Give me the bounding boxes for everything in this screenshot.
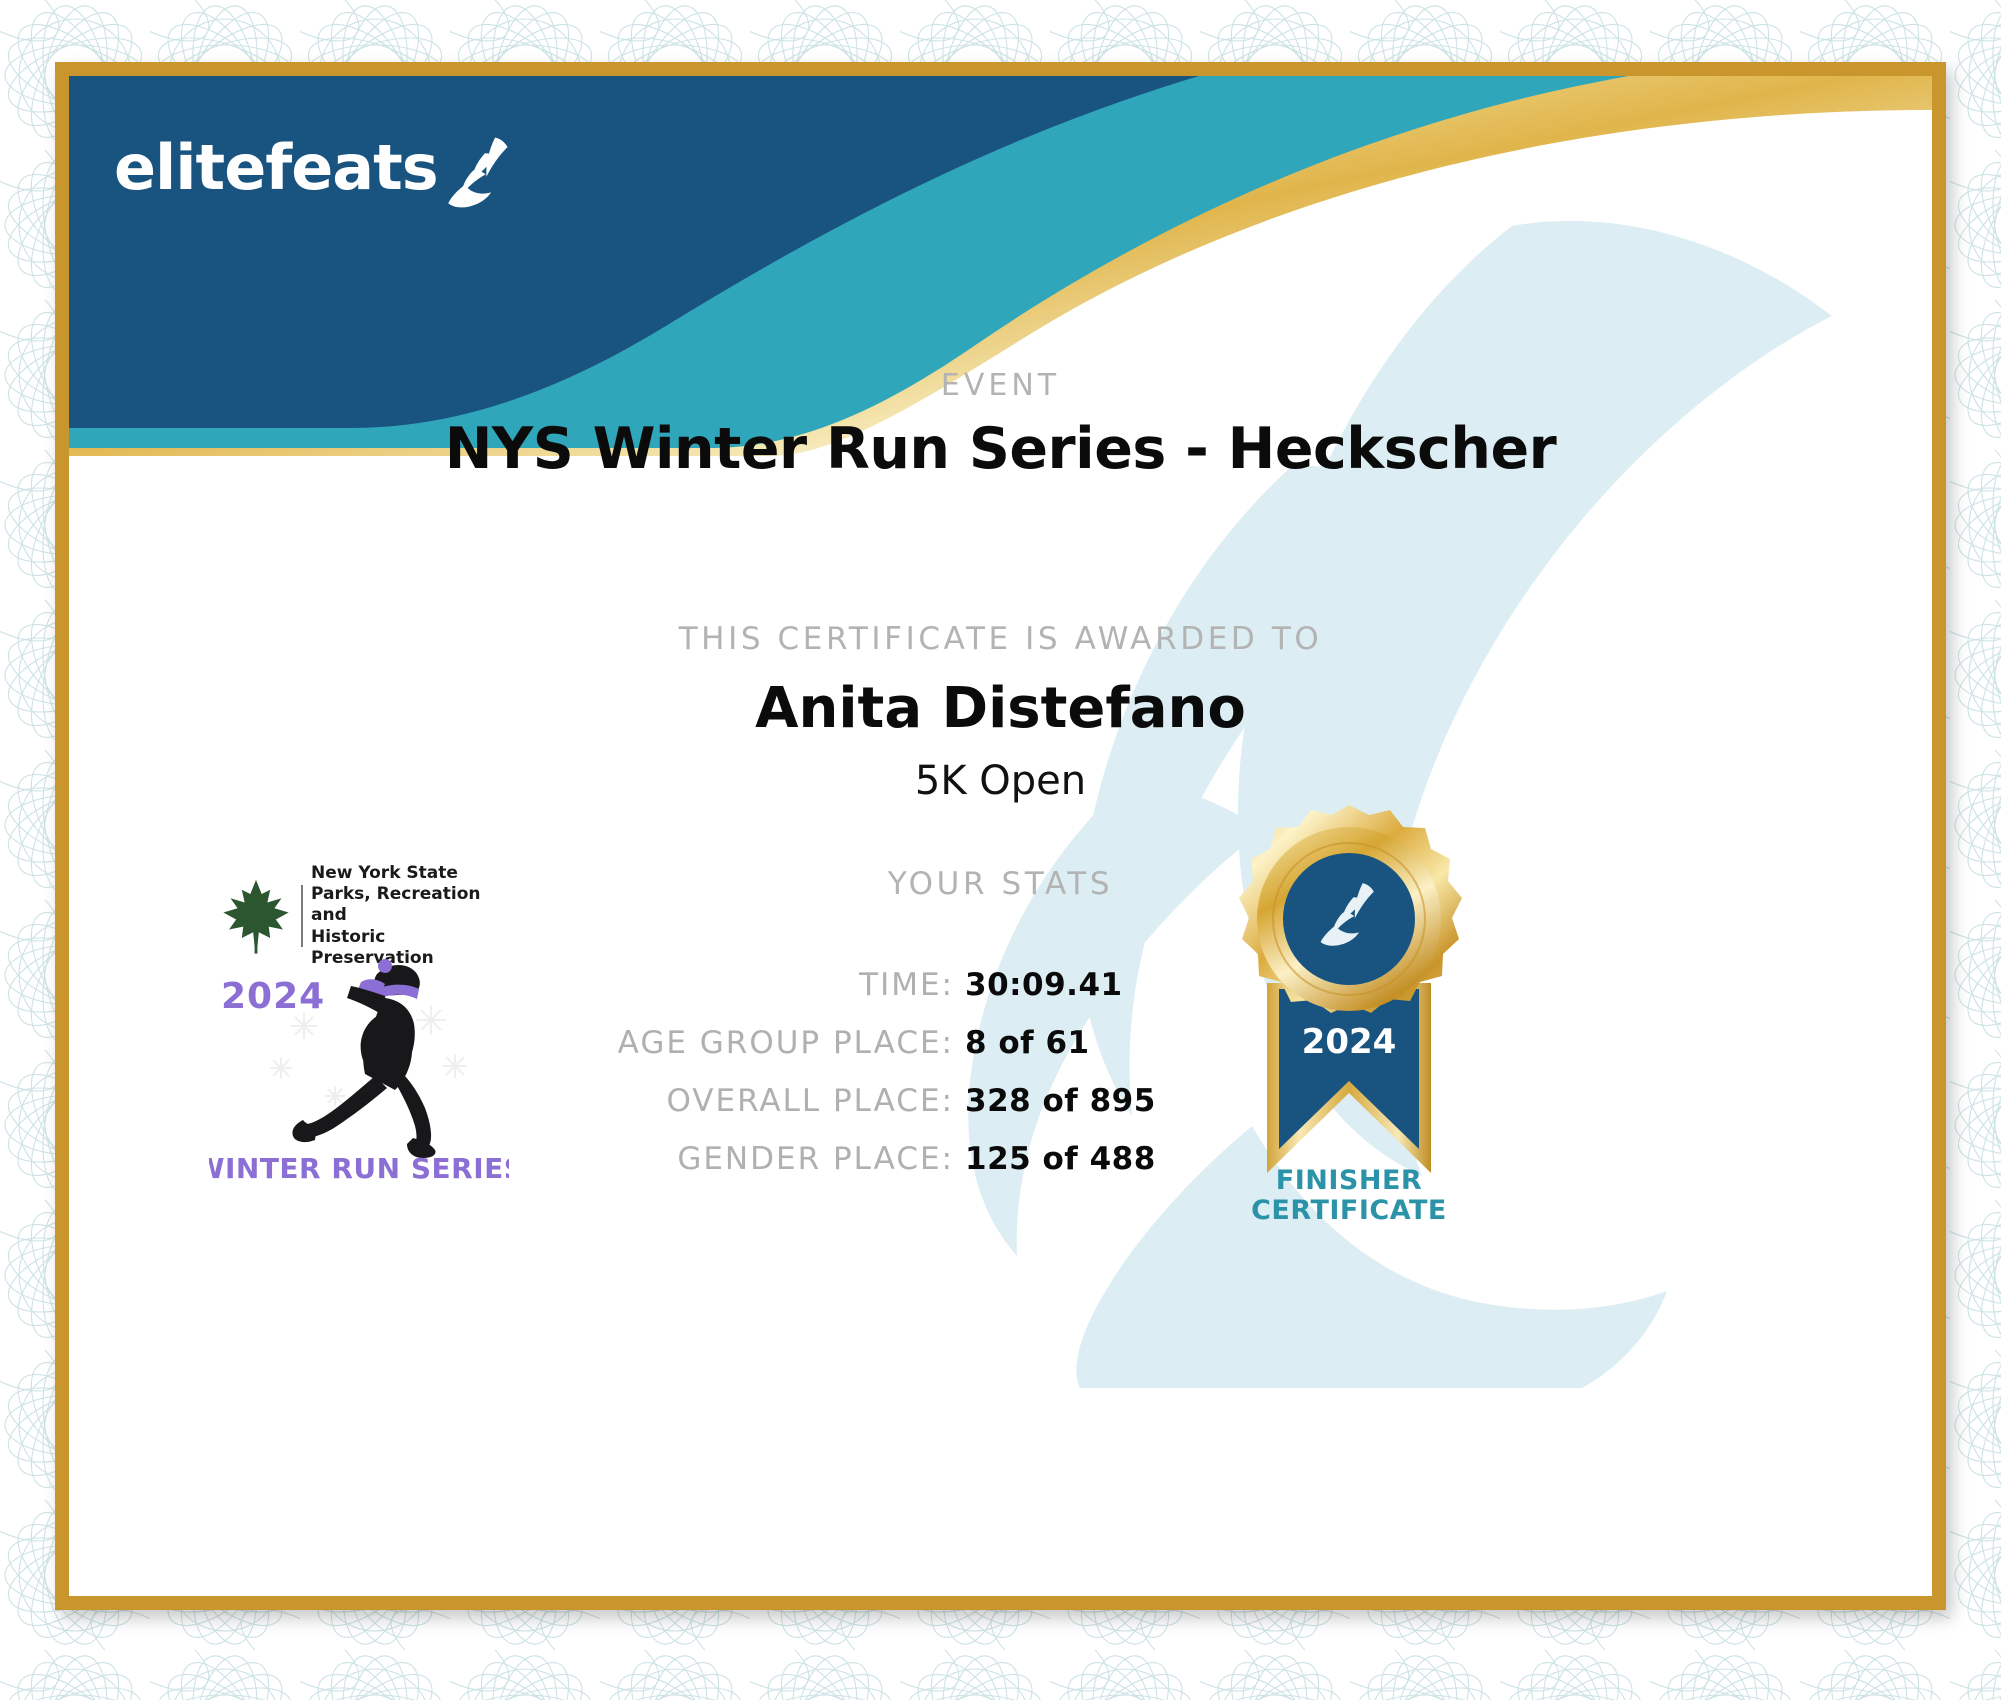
- stat-key: GENDER PLACE:: [484, 1130, 965, 1188]
- stat-key: OVERALL PLACE:: [484, 1072, 965, 1130]
- parks-logo-text: New York State Parks, Recreation and His…: [311, 863, 509, 969]
- maple-leaf-icon: [219, 877, 293, 955]
- winter-run-year: 2024: [221, 976, 325, 1017]
- winter-run-series-logo: 2024 WINTER RUN SERI: [209, 956, 509, 1186]
- event-title: NYS Winter Run Series - Heckscher: [69, 416, 1932, 482]
- stat-key: AGE GROUP PLACE:: [484, 1014, 965, 1072]
- recipient-name: Anita Distefano: [69, 676, 1932, 741]
- parks-line-2: Parks, Recreation and: [311, 884, 509, 927]
- medal-ribbon: 2024: [1267, 983, 1431, 1173]
- medal-disc: [1239, 805, 1462, 1013]
- nys-parks-logo: New York State Parks, Recreation and His…: [219, 871, 509, 961]
- certificate-card: elitefeats EVENT NYS Winter Run Series -…: [55, 62, 1946, 1610]
- parks-line-1: New York State: [311, 863, 509, 884]
- divider: [301, 885, 303, 947]
- finisher-line-2: CERTIFICATE: [1174, 1196, 1524, 1226]
- event-label: EVENT: [69, 368, 1932, 403]
- finisher-line-1: FINISHER: [1174, 1166, 1524, 1196]
- finisher-caption: FINISHER CERTIFICATE: [1174, 1166, 1524, 1226]
- awarded-to-label: THIS CERTIFICATE IS AWARDED TO: [69, 621, 1932, 657]
- stat-key: TIME:: [484, 956, 965, 1014]
- division-label: 5K Open: [69, 758, 1932, 804]
- medal-ribbon-year: 2024: [1302, 1022, 1397, 1062]
- winter-run-title: WINTER RUN SERIES: [209, 1152, 509, 1185]
